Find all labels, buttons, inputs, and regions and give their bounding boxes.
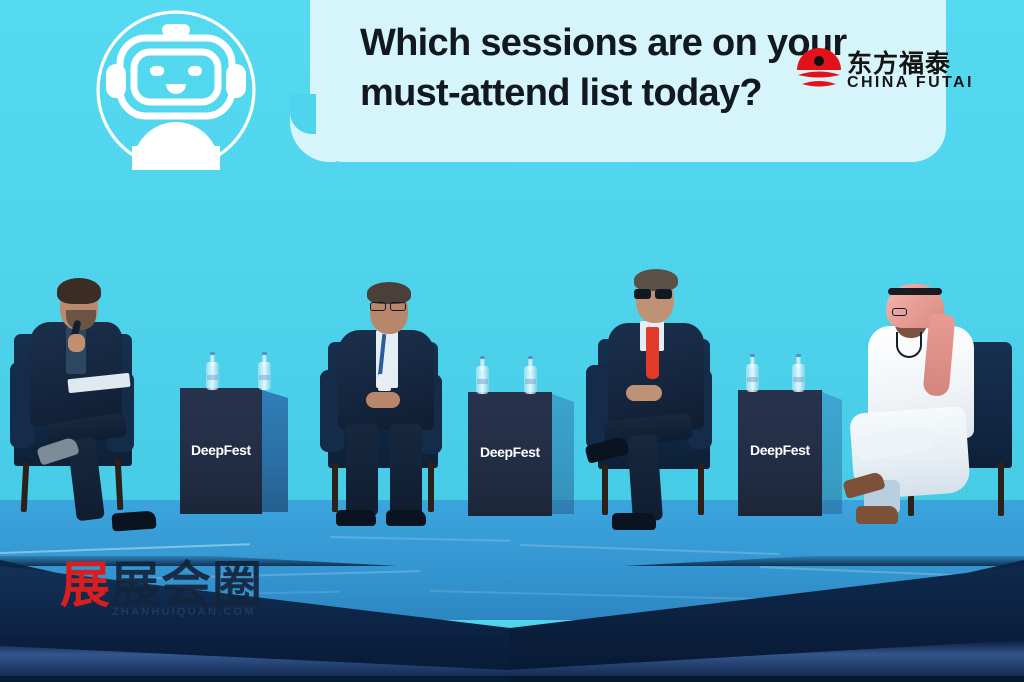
- water-bottle: [476, 356, 489, 394]
- water-bottle: [792, 354, 805, 392]
- bubble-tail: [290, 96, 336, 162]
- sponsor-logo-china-futai: 东方福泰 CHINA FUTAI: [795, 44, 995, 104]
- water-bottle: [524, 356, 537, 394]
- chair-leg: [21, 462, 30, 512]
- leg: [627, 434, 663, 522]
- watermark-dark-chars: 展会圈: [110, 560, 263, 610]
- hand: [68, 334, 85, 352]
- podium-side-panel: [262, 390, 288, 512]
- eyeglasses-icon: [390, 302, 406, 311]
- water-bottle: [258, 352, 271, 390]
- robot-icon: [78, 6, 274, 178]
- shoe: [111, 510, 156, 531]
- chair-leg: [698, 463, 704, 515]
- podium-side-panel: [552, 394, 574, 514]
- eyeglasses-icon: [634, 289, 651, 299]
- watermark-red-char: 展: [60, 560, 110, 610]
- shoe: [336, 510, 376, 526]
- necktie: [646, 327, 659, 379]
- hands: [626, 385, 662, 401]
- chair-leg: [998, 462, 1004, 516]
- podium-logo-deepfest: DeepFest: [480, 444, 540, 460]
- leg: [346, 424, 378, 516]
- chair-leg: [602, 465, 608, 515]
- panelist-2: [310, 282, 470, 532]
- necklace-cord: [896, 332, 922, 358]
- shoe: [856, 506, 898, 524]
- sponsor-name-english: CHINA FUTAI: [847, 74, 974, 92]
- shoe: [612, 513, 656, 530]
- panelist-4: [846, 280, 1016, 530]
- panelist-3: [578, 265, 743, 530]
- eyeglasses-icon: [370, 302, 386, 311]
- panelist-moderator: [10, 276, 190, 536]
- podium-logo-deepfest: DeepFest: [750, 442, 810, 458]
- water-bottle: [746, 354, 759, 392]
- podium: DeepFest: [180, 388, 290, 520]
- agal-headband: [888, 288, 942, 295]
- leg: [390, 424, 422, 516]
- water-bottle: [206, 352, 219, 390]
- site-watermark: 展 展会圈 ZHANHUIQUAN.COM: [60, 556, 275, 626]
- conference-stage-photo: DeepFest DeepFest: [0, 0, 1024, 682]
- watermark-url: ZHANHUIQUAN.COM: [112, 606, 256, 618]
- china-futai-sunrise-icon: [795, 46, 843, 94]
- podium: DeepFest: [738, 390, 848, 520]
- hair: [367, 282, 411, 304]
- hair: [57, 278, 101, 304]
- podium-side-panel: [822, 392, 842, 514]
- shoe: [386, 510, 426, 526]
- chair-leg: [428, 462, 434, 512]
- eyeglasses-icon: [655, 289, 672, 299]
- badge: [378, 374, 391, 391]
- hair: [634, 269, 678, 291]
- eyeglasses-icon: [892, 308, 907, 316]
- podium-logo-deepfest: DeepFest: [191, 442, 251, 458]
- chair-leg: [332, 464, 338, 512]
- podium: DeepFest: [468, 392, 578, 522]
- hands: [366, 392, 400, 408]
